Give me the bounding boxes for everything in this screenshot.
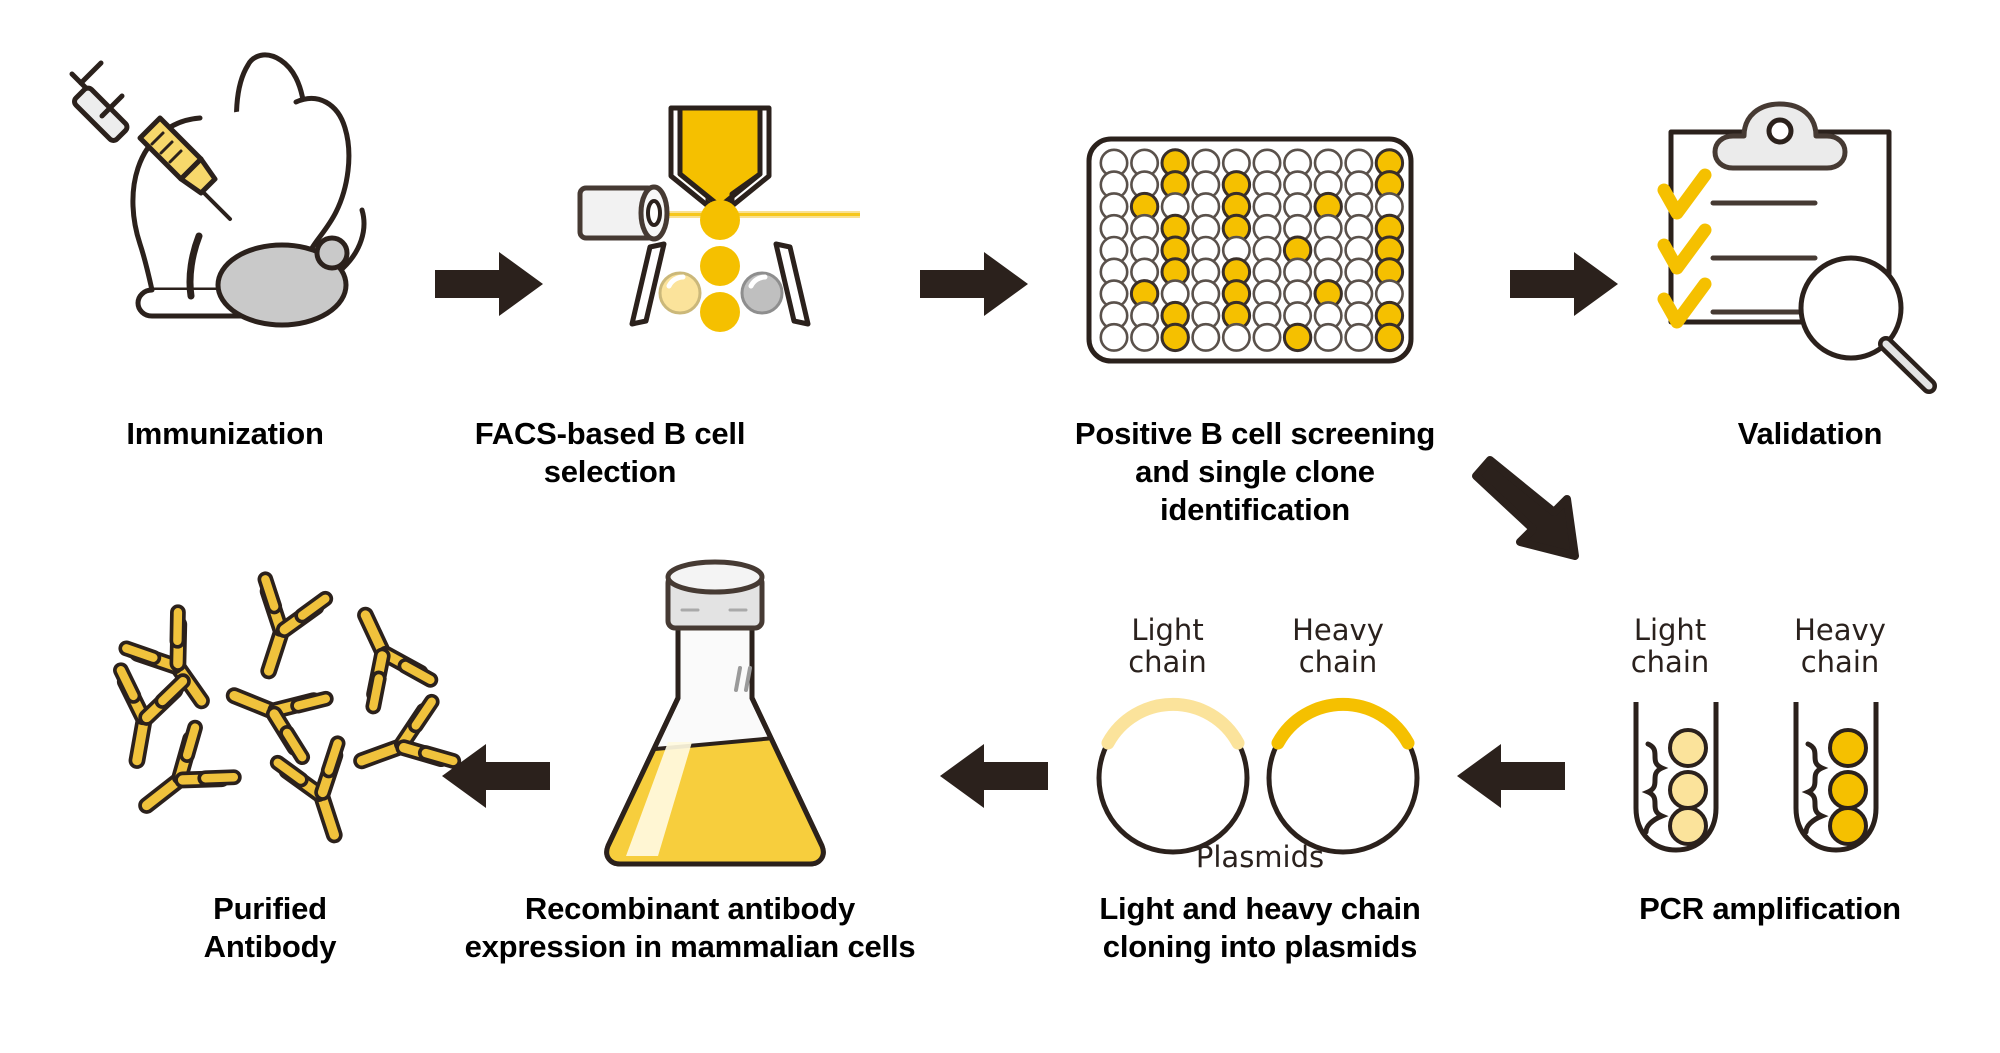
plasmid-heavy-chain-label: Heavy chain bbox=[1258, 615, 1418, 679]
step-icon-cloning-plasmids bbox=[1095, 700, 1425, 860]
arrow-7-left bbox=[440, 740, 552, 812]
step-icon-purified-antibody bbox=[105, 595, 435, 845]
heavy-chain-plasmid bbox=[1269, 704, 1417, 852]
antibody-icon bbox=[106, 670, 183, 766]
arrow-2-right bbox=[918, 248, 1030, 320]
antibody-icon bbox=[337, 602, 430, 707]
microplate-well bbox=[1346, 324, 1372, 350]
step-icon-positive-screening bbox=[1085, 135, 1415, 385]
caption-pcr-amplification: PCR amplification bbox=[1580, 890, 1960, 928]
step-icon-recombinant-expression bbox=[590, 560, 840, 870]
microplate-well bbox=[1376, 324, 1402, 350]
caption-facs-selection: FACS-based B cell selection bbox=[430, 415, 790, 491]
arrow-1-right bbox=[433, 248, 545, 320]
laser-source-icon bbox=[580, 187, 667, 239]
caption-immunization: Immunization bbox=[30, 415, 420, 453]
workflow-diagram: Immunization bbox=[0, 0, 2000, 1053]
light-chain-tube bbox=[1636, 702, 1716, 850]
antibody-cluster bbox=[106, 579, 453, 844]
caption-positive-screening: Positive B cell screening and single clo… bbox=[1010, 415, 1500, 528]
plasmid-light-chain-label: Light chain bbox=[1090, 615, 1245, 679]
microplate-well bbox=[1193, 324, 1219, 350]
caption-recombinant-expression: Recombinant antibody expression in mamma… bbox=[370, 890, 1010, 966]
flask-cap bbox=[668, 562, 762, 628]
microplate-well bbox=[1131, 324, 1157, 350]
droplet-stream-icon bbox=[700, 200, 740, 332]
caption-purified-antibody: Purified Antibody bbox=[80, 890, 460, 966]
antibody-icon bbox=[239, 579, 326, 680]
arrow-3-right bbox=[1508, 248, 1620, 320]
arrow-4-down-right bbox=[1470, 450, 1600, 570]
caption-cloning-plasmids: Light and heavy chain cloning into plasm… bbox=[1040, 890, 1480, 966]
antibody-icon bbox=[351, 702, 453, 791]
microplate-well bbox=[1315, 324, 1341, 350]
arrow-6-left bbox=[938, 740, 1050, 812]
microplate-well bbox=[1254, 324, 1280, 350]
heavy-chain-tube bbox=[1796, 702, 1876, 850]
step-icon-pcr-amplification bbox=[1600, 700, 1920, 860]
step-icon-validation bbox=[1655, 100, 1965, 360]
step-icon-facs-selection bbox=[570, 100, 870, 330]
plasmids-footer-label: Plasmids bbox=[1100, 842, 1420, 874]
arrow-5-left bbox=[1455, 740, 1567, 812]
laser-beam-icon bbox=[660, 211, 860, 218]
pcr-heavy-chain-label: Heavy chain bbox=[1760, 615, 1920, 679]
magnifier-icon bbox=[1801, 258, 1929, 386]
microplate-well bbox=[1101, 324, 1127, 350]
microplate-well bbox=[1284, 324, 1310, 350]
step-icon-immunization bbox=[60, 40, 390, 320]
light-chain-plasmid bbox=[1099, 704, 1247, 852]
microplate-well bbox=[1162, 324, 1188, 350]
antibody-icon bbox=[222, 666, 325, 757]
microplate-well bbox=[1223, 324, 1249, 350]
antibody-icon bbox=[278, 743, 365, 844]
caption-validation: Validation bbox=[1640, 415, 1980, 453]
pcr-light-chain-label: Light chain bbox=[1595, 615, 1745, 679]
